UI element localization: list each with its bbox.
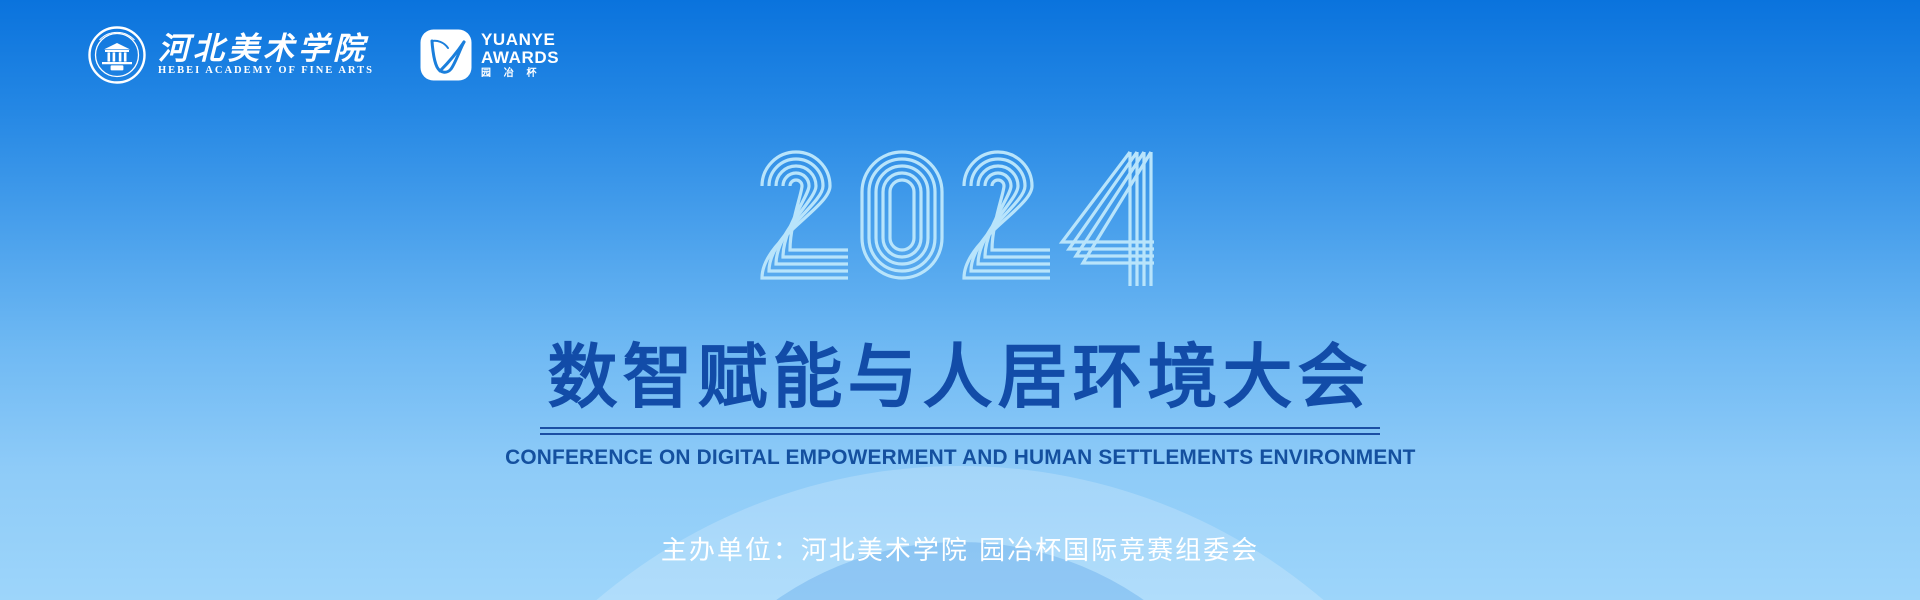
- title-divider: [540, 427, 1380, 435]
- headline-block: 数智赋能与人居环境大会 CONFERENCE ON DIGITAL EMPOWE…: [0, 340, 1920, 470]
- academy-seal-icon: [88, 26, 146, 84]
- year-digit-2b: [964, 152, 1050, 278]
- year-2024-icon: [750, 138, 1170, 288]
- organizer-line: 主办单位：河北美术学院 园冶杯国际竞赛组委会: [0, 530, 1920, 567]
- year-digit-0: [862, 152, 942, 278]
- hebei-academy-logo: 河北美术学院 HEBEI ACADEMY OF FINE ARTS: [88, 26, 374, 84]
- yuanye-line1: YUANYE: [481, 31, 559, 48]
- yuanye-line2: AWARDS: [481, 49, 559, 66]
- hebei-academy-wordmark: 河北美术学院 HEBEI ACADEMY OF FINE ARTS: [158, 33, 374, 77]
- divider-line-2: [540, 433, 1380, 435]
- year-graphic: [0, 138, 1920, 288]
- conference-banner: 河北美术学院 HEBEI ACADEMY OF FINE ARTS YUANYE…: [0, 0, 1920, 600]
- logo-row: 河北美术学院 HEBEI ACADEMY OF FINE ARTS YUANYE…: [88, 26, 559, 84]
- hebei-name-en: HEBEI ACADEMY OF FINE ARTS: [158, 66, 374, 77]
- divider-line-1: [540, 427, 1380, 429]
- year-digit-2: [762, 152, 848, 278]
- yuanye-line3-cn: 园 冶 杯: [481, 69, 559, 79]
- hebei-name-cn: 河北美术学院: [158, 33, 374, 64]
- yuanye-mark-icon: [420, 29, 472, 81]
- yuanye-wordmark: YUANYE AWARDS 园 冶 杯: [481, 31, 559, 79]
- year-digit-4: [1062, 152, 1154, 286]
- yuanye-awards-logo: YUANYE AWARDS 园 冶 杯: [420, 29, 559, 81]
- page-title-cn: 数智赋能与人居环境大会: [548, 340, 1373, 414]
- page-subtitle-en: CONFERENCE ON DIGITAL EMPOWERMENT AND HU…: [505, 445, 1416, 470]
